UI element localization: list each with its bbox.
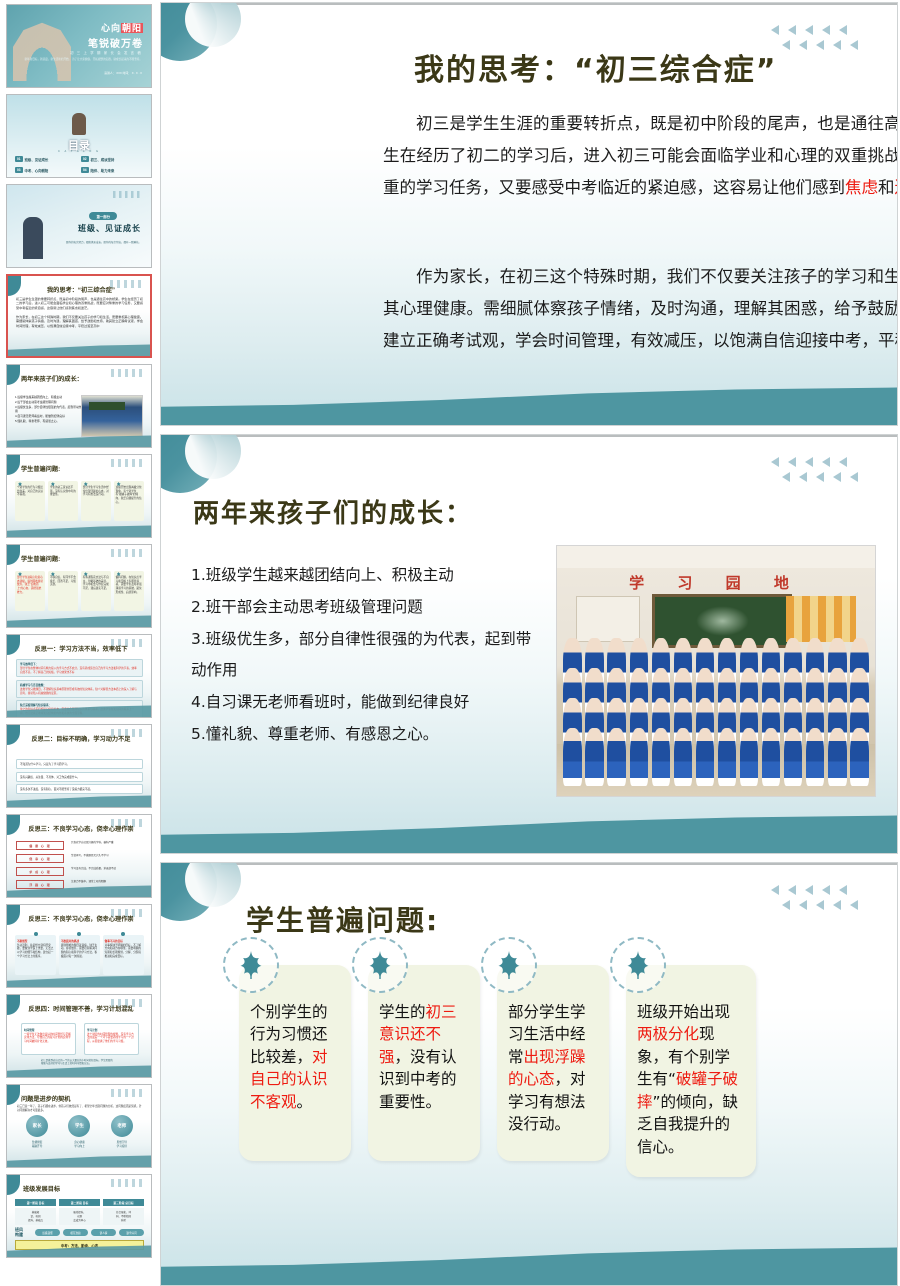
corner-decoration <box>7 455 20 475</box>
leaf-icon <box>366 950 394 980</box>
triangle-left-icon <box>805 25 813 35</box>
arrow-decoration-group <box>771 885 875 910</box>
catalog-subtitle: C A T A L O G <box>7 150 151 153</box>
triangle-left-icon <box>771 885 779 895</box>
thumb-title: 反思四：时间管理不善，学习计划混乱 <box>17 1004 145 1013</box>
thumb-body: 初三是学生生涯的重要转折点，既是初中阶段的尾声，也是通往高中的桥梁。学生在经历了… <box>16 297 143 328</box>
triangle-left-icon <box>850 40 858 50</box>
slide-thumbnail-8[interactable]: 反思一：学习方法不当，效率低下 学习效率低下：部分学生在整体时间与精力投入的学习… <box>6 634 152 718</box>
triangle-left-icon <box>822 25 830 35</box>
cover-title-line2: 笔锐破万卷 <box>88 35 143 50</box>
thumb-rows: 不知道为什么学习，只是为了学习而学习。 没有兴趣班、关注量、不具体、对工作完成量… <box>16 759 143 794</box>
triangle-left-icon <box>839 885 847 895</box>
wave-decoration <box>7 793 151 807</box>
slide-thumbnail-7[interactable]: 学生普遍问题: 部分学生进取心较弱心态消极，遇到困难容易放弃，缺乏“迎难而上”的… <box>6 544 152 628</box>
section-illustration <box>23 217 43 259</box>
cover-footer: 演讲人： XXX 时间： X . X . X <box>104 71 142 75</box>
list-item: 2.班干部会主动思考班级管理问题 <box>191 592 541 624</box>
triangle-left-icon <box>805 457 813 467</box>
thumb-title: 问题是进步的契机 <box>21 1094 145 1103</box>
slide-thumbnail-4[interactable]: 我的思考：“初三综合症” 初三是学生生涯的重要转折点，既是初中阶段的尾声，也是通… <box>6 274 152 358</box>
section-title: 班级、见证成长 <box>78 223 141 234</box>
wave-decoration <box>7 973 151 987</box>
corner-decoration <box>7 1175 20 1195</box>
thumb-tag-texts: 只喜欢学自己感兴趣的学科，偏科严重 生怕再写，不做题目又兴头不学习 学习没有完成… <box>71 841 144 889</box>
leaf-icon-badge <box>610 937 666 993</box>
slide-1-title: 我的思考：“初三综合症” <box>414 45 777 89</box>
triangle-left-icon <box>850 472 858 482</box>
thumb-title: 两年来孩子们的成长： <box>21 374 145 383</box>
thumb-photo <box>81 395 143 437</box>
triangle-left-icon <box>833 40 841 50</box>
thumb-lead: 初三已是一年了，孩子们都在进步，但孩子们依然是有了、希望全年出现问题的分析，这问… <box>17 1105 143 1112</box>
cover-illustration <box>13 19 71 81</box>
leaf-icon-badge <box>352 937 408 993</box>
catalog-illustration <box>72 113 86 135</box>
thumb-circles: 家长 学生 老师 <box>16 1115 143 1137</box>
photo-wall-banner: 学 习 园 地 <box>629 572 803 593</box>
wave-footer-decoration <box>161 805 897 853</box>
thumb-title: 反思三：不良学习心态，侥幸心理作崇 <box>17 824 145 833</box>
slide-3-title: 学生普遍问题: <box>246 899 439 939</box>
slide-1-paragraph-1: 初三是学生生涯的重要转折点，既是初中阶段的尾声，也是通往高中的桥梁。学生在经历了… <box>383 108 898 205</box>
thumb-cards: 部分学生进取心较弱心态消极，遇到困难容易放弃，缺乏“迎难而上”的心态，需增强抗挫… <box>15 571 144 611</box>
slide-thumbnail-6[interactable]: 学生普遍问题: 个别学生的行为习惯还比较差，对自己的认识不客观。 学生的初三意识… <box>6 454 152 538</box>
thumb-title: 反思一：学习方法不当，效率低下 <box>17 644 145 653</box>
triangle-left-icon <box>788 25 796 35</box>
catalog-label: 陪伴、助力未来 <box>91 168 115 173</box>
wave-decoration <box>7 1153 151 1167</box>
class-group-photo: 学 习 园 地 <box>556 545 876 797</box>
triangle-left-icon <box>771 457 779 467</box>
thumb-footer: 初三是做到对自己的一个的以大量分的小时间的短目标，学生需要的 帮助与良好的学习与… <box>41 1059 139 1066</box>
leaf-icon <box>237 950 265 980</box>
catalog-num: 03 <box>15 167 23 173</box>
thumb-circle-labels: 监督督促 辅助开导 身心健康 学习向上 思想引导 学习指导 <box>16 1141 143 1148</box>
triangle-left-icon <box>833 900 841 910</box>
catalog-label: 班级、见证成长 <box>25 157 49 162</box>
slide-thumbnail-10[interactable]: 反思三：不良学习心态，侥幸心理作崇 偏 要 心 理 侥 幸 心 理 求 成 心 … <box>6 814 152 898</box>
leaf-icon-badge <box>223 937 279 993</box>
wave-footer-decoration <box>161 1237 897 1285</box>
slide-thumbnail-5[interactable]: 两年来孩子们的成长： 1.班级学生越来越团结向上、积极主动 2.班干部会主动思考… <box>6 364 152 448</box>
wave-decoration <box>8 342 150 356</box>
section-badge: 第一部分 <box>89 212 117 220</box>
triangle-left-icon <box>822 457 830 467</box>
leaf-icon <box>624 950 652 980</box>
triangle-left-icon <box>850 900 858 910</box>
slide-thumbnail-panel[interactable]: 心向朝阳 笔锐破万卷 初 三 上 学 期 家 长 会 发 言 稿 新年新目标，新… <box>0 0 158 1286</box>
thumb-title: 我的思考：“初三综合症” <box>18 285 144 294</box>
thumb-title: 学生普遍问题: <box>21 464 145 473</box>
slide-2-title: 两年来孩子们的成长： <box>193 493 473 530</box>
top-rule <box>221 435 897 437</box>
thumb-cards: 不耐烦型急功近利，总是想立刻有所突破，要做到学霸上也要，无法之以学习的细节和结构… <box>15 935 144 975</box>
wave-footer-decoration <box>161 377 897 425</box>
leaf-icon <box>495 950 523 980</box>
cover-subtitle: 初 三 上 学 期 家 长 会 发 言 稿 <box>70 50 142 55</box>
list-item: 4.自习课无老师看班时，能做到纪律良好 <box>191 687 541 719</box>
leaf-icon-badge <box>481 937 537 993</box>
triangle-left-icon <box>771 25 779 35</box>
thumb-title: 反思三：不良学习心态，侥幸心理作崇 <box>17 914 145 923</box>
triangle-left-icon <box>788 885 796 895</box>
problem-card-1: 个别学生的行为习惯还比较差，对自己的认识不客观。 <box>239 965 351 1161</box>
catalog-label: 初三、成淡坚持 <box>91 157 115 162</box>
problem-card-group: 个别学生的行为习惯还比较差，对自己的认识不客观。 学生的初三意识还不强，没有认识… <box>239 965 756 1177</box>
slide-thumbnail-14[interactable]: 班级发展目标 第一阶段 目标 第二阶段 目标 第三阶段 总目标 基础知 识、巩固… <box>6 1174 152 1258</box>
triangle-left-icon <box>839 25 847 35</box>
problem-card-4: 班级开始出现两极分化现象，有个别学生有“破罐子破摔”的倾向，缺乏自我提升的信心。 <box>626 965 756 1177</box>
dot-decoration <box>113 191 143 198</box>
thumb-list: 1.班级学生越来越团结向上、积极主动 2.班干部会主动思考班级管理问题 3.班级… <box>15 395 83 424</box>
slide-thumbnail-2[interactable]: 目录 C A T A L O G 01班级、见证成长 02初三、成淡坚持 03中… <box>6 94 152 178</box>
cover-title-line1: 心向朝阳 <box>101 21 143 34</box>
slide-my-thinking[interactable]: 我的思考：“初三综合症” 初三是学生生涯的重要转折点，既是初中阶段的尾声，也是通… <box>160 2 898 426</box>
corner-decoration <box>7 545 20 565</box>
corner-decoration <box>7 1085 20 1105</box>
catalog-num: 02 <box>81 156 89 162</box>
catalog-label: 中考、心向朝阳 <box>25 168 49 173</box>
top-rule <box>221 863 897 865</box>
catalog-num: 01 <box>15 156 23 162</box>
slide-canvas-area: 我的思考：“初三综合症” 初三是学生生涯的重要转折点，既是初中阶段的尾声，也是通… <box>158 0 900 1286</box>
cover-meta: 新年新目标，新高度，新生活新的开始。 为了让大家健康，开拓视野的实践，助成长起来… <box>25 58 142 62</box>
thumb-title: 班级发展目标 <box>23 1184 145 1193</box>
thumb-tags: 偏 要 心 理 侥 幸 心 理 求 成 心 理 浮 躁 心 理 <box>16 841 64 889</box>
triangle-left-icon <box>816 40 824 50</box>
arrow-decoration-group <box>771 457 875 482</box>
thumb-goal: 第一阶段 目标 第二阶段 目标 第三阶段 总目标 基础知 识、巩固 提升、基础点… <box>15 1199 144 1250</box>
triangle-left-icon <box>816 472 824 482</box>
wave-decoration <box>7 613 151 627</box>
triangle-left-icon <box>782 900 790 910</box>
circle-icon <box>34 932 38 936</box>
slide-thumbnail-13[interactable]: 问题是进步的契机 初三已是一年了，孩子们都在进步，但孩子们依然是有了、希望全年出… <box>6 1084 152 1168</box>
list-item: 5.懂礼貌、尊重老师、有感恩之心。 <box>191 719 541 751</box>
wave-decoration <box>7 523 151 537</box>
list-item: 3.班级优生多，部分自律性很强的为代表，起到带动作用 <box>191 624 541 688</box>
triangle-left-icon <box>799 900 807 910</box>
triangle-left-icon <box>788 457 796 467</box>
triangle-left-icon <box>833 472 841 482</box>
problem-card-2: 学生的初三意识还不强，没有认识到中考的重要性。 <box>368 965 480 1161</box>
presentation-editor-window: 心向朝阳 笔锐破万卷 初 三 上 学 期 家 长 会 发 言 稿 新年新目标，新… <box>0 0 900 1286</box>
thumb-boxes: 时间管理一些学生无法做出良好的时间管控与掌握安排方法，导致自己的复习计划的安排学… <box>21 1023 139 1055</box>
slide-1-paragraph-2: 作为家长，在初三这个特殊时期，我们不仅要关注孩子的学习和生活，更要重视其心理健康… <box>383 261 898 358</box>
circle-icon <box>121 932 125 936</box>
slide-thumbnail-3[interactable]: 第一部分 班级、见证成长 愿你的每次努力，都能换来成长。愿你的每次付出，都有一路… <box>6 184 152 268</box>
triangle-left-icon <box>782 40 790 50</box>
slide-thumbnail-9[interactable]: 反思二：目标不明确，学习动力不足 不知道为什么学习，只是为了学习而学习。 没有兴… <box>6 724 152 808</box>
triangle-left-icon <box>782 472 790 482</box>
slide-thumbnail-11[interactable]: 反思三：不良学习心态，侥幸心理作崇 不耐烦型急功近利，总是想立刻有所突破，要做到… <box>6 904 152 988</box>
slide-common-problems[interactable]: 学生普遍问题: 个别学生的行为习惯还比较差，对自己的认识不客观。 <box>160 862 898 1286</box>
circle-icon <box>77 932 81 936</box>
triangle-left-icon <box>799 40 807 50</box>
top-rule <box>221 3 897 5</box>
catalog-num: 04 <box>81 167 89 173</box>
triangle-left-icon <box>822 885 830 895</box>
thumb-title: 学生普遍问题: <box>21 554 145 563</box>
triangle-left-icon <box>816 900 824 910</box>
problem-card-3: 部分学生学习生活中经常出现浮躁的心态，对学习有想法没行动。 <box>497 965 609 1161</box>
slide-thumbnail-1[interactable]: 心向朝阳 笔锐破万卷 初 三 上 学 期 家 长 会 发 言 稿 新年新目标，新… <box>6 4 152 88</box>
corner-decoration <box>7 365 20 385</box>
arrow-decoration-group <box>771 25 875 50</box>
thumb-cards: 个别学生的行为习惯还比较差，对自己的认识不客观。 学生的初三意识还不强，没有认识… <box>15 481 144 521</box>
slide-growth[interactable]: 两年来孩子们的成长： 1.班级学生越来越团结向上、积极主动 2.班干部会主动思考… <box>160 434 898 854</box>
slide-thumbnail-12[interactable]: 反思四：时间管理不善，学习计划混乱 时间管理一些学生无法做出良好的时间管控与掌握… <box>6 994 152 1078</box>
triangle-left-icon <box>805 885 813 895</box>
section-note: 愿你的每次努力，都能换来成长。愿你的每次付出，都有一路繁花。 <box>66 241 141 245</box>
triangle-left-icon <box>839 457 847 467</box>
triangle-left-icon <box>799 472 807 482</box>
list-item: 1.班级学生越来越团结向上、积极主动 <box>191 560 541 592</box>
slide-2-growth-list: 1.班级学生越来越团结向上、积极主动 2.班干部会主动思考班级管理问题 3.班级… <box>191 560 541 751</box>
thumb-title: 反思二：目标不明确，学习动力不足 <box>17 734 145 743</box>
